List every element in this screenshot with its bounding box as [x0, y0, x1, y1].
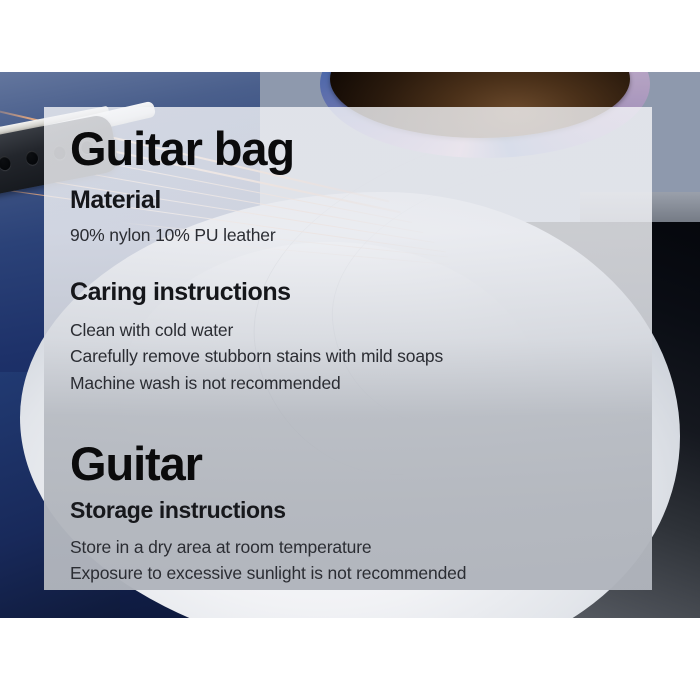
storage-line: Exposure to excessive sunlight is not re… — [70, 560, 626, 587]
caring-line: Machine wash is not recommended — [70, 370, 626, 397]
caring-line: Clean with cold water — [70, 317, 626, 344]
section-title-guitar: Guitar — [70, 440, 626, 488]
product-info-graphic: Guitar bag Material 90% nylon 10% PU lea… — [0, 0, 700, 700]
bridge-pin — [0, 155, 12, 171]
heading-caring-instructions: Caring instructions — [70, 279, 626, 307]
heading-material: Material — [70, 187, 626, 215]
material-line: 90% nylon 10% PU leather — [70, 222, 626, 249]
group-caring-instructions: Caring instructions Clean with cold wate… — [70, 279, 626, 396]
caring-line: Carefully remove stubborn stains with mi… — [70, 343, 626, 370]
caring-instructions-list: Clean with cold water Carefully remove s… — [70, 317, 626, 397]
section-title-guitar-bag: Guitar bag — [70, 125, 626, 173]
group-guitar: Guitar Storage instructions Store in a d… — [70, 440, 626, 586]
bridge-pin — [25, 150, 39, 166]
group-material: Material 90% nylon 10% PU leather — [70, 187, 626, 249]
info-panel: Guitar bag Material 90% nylon 10% PU lea… — [44, 107, 652, 590]
storage-instructions-list: Store in a dry area at room temperature … — [70, 534, 626, 587]
heading-storage-instructions: Storage instructions — [70, 498, 626, 523]
storage-line: Store in a dry area at room temperature — [70, 534, 626, 561]
